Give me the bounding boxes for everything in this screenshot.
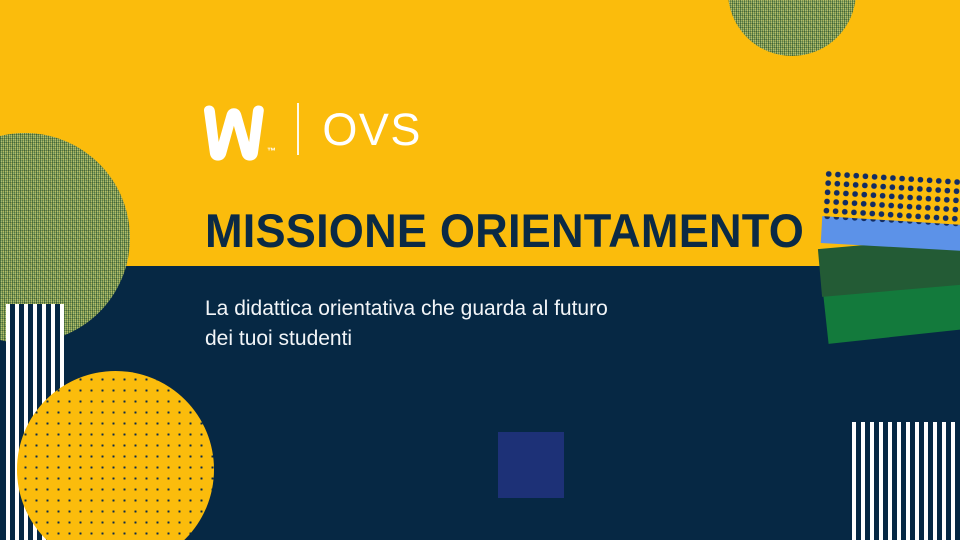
subtitle-line-1: La didattica orientativa che guarda al f… — [205, 294, 675, 324]
subtitle-line-2: dei tuoi studenti — [205, 324, 675, 354]
w-logo-mark-wrap: ™ — [203, 96, 276, 162]
brand-logo-lockup: ™ OVS — [203, 96, 422, 162]
trademark-symbol: ™ — [267, 147, 276, 156]
white-pinstripe-block-right — [852, 422, 960, 540]
indigo-square-decoration — [498, 432, 564, 498]
presentation-slide: ™ OVS MISSIONE ORIENTAMENTO La didattica… — [0, 0, 960, 540]
slide-subtitle: La didattica orientativa che guarda al f… — [205, 294, 675, 354]
logo-divider — [297, 103, 299, 155]
brand-name-ovs: OVS — [322, 107, 422, 152]
slide-headline: MISSIONE ORIENTAMENTO — [205, 206, 804, 255]
w-logo-icon — [203, 104, 265, 162]
